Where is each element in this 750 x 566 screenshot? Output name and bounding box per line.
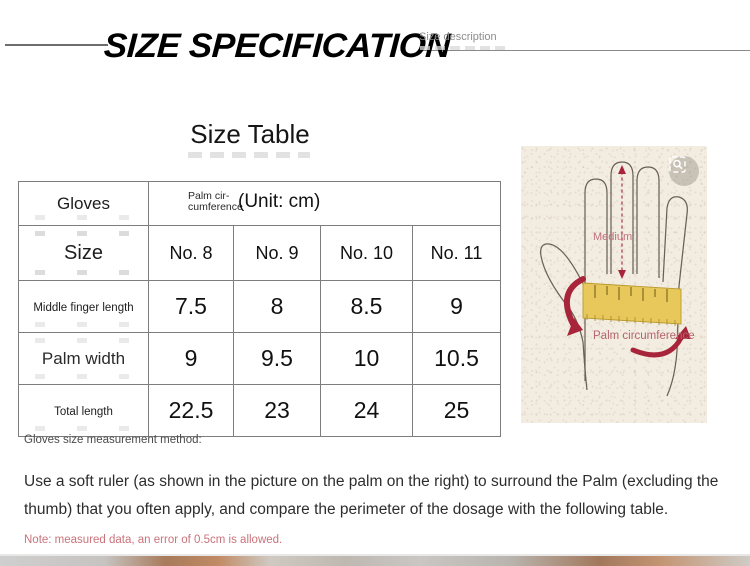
table-cell-value: No. 9 bbox=[234, 226, 321, 281]
unit-note: (Unit: cm) bbox=[238, 191, 320, 213]
table-row-middle-finger-length: Middle finger length 7.5 8 8.5 9 bbox=[19, 281, 501, 333]
table-cell-value: No. 8 bbox=[149, 226, 234, 281]
table-cell-value: 10.5 bbox=[413, 333, 501, 385]
hand-diagram-svg: Medium bbox=[521, 146, 707, 423]
arrow-head-down bbox=[618, 270, 626, 279]
hand-outline-icon bbox=[541, 162, 688, 396]
palm-circumference-label: Palm circumference bbox=[593, 330, 695, 342]
row-label: Size bbox=[64, 242, 103, 264]
hand-measurement-diagram[interactable]: Medium bbox=[521, 146, 707, 423]
table-cell-value: 23 bbox=[234, 385, 321, 437]
table-row-header: Gloves Palm cir-cumference (Unit: cm) bbox=[19, 182, 501, 226]
row-label: Palm width bbox=[42, 349, 125, 368]
size-specification-page: SIZE SPECIFICATION Size description Size… bbox=[0, 0, 750, 566]
table-row-palm-width: Palm width 9 9.5 10 10.5 bbox=[19, 333, 501, 385]
erased-text-artifact bbox=[19, 231, 148, 236]
size-table-heading: Size Table bbox=[0, 119, 500, 150]
table-cell-value: 9.5 bbox=[234, 333, 321, 385]
measurement-method-body: Use a soft ruler (as shown in the pictur… bbox=[24, 468, 724, 524]
table-cell-value: 9 bbox=[149, 333, 234, 385]
table-cell-row-label: Total length bbox=[19, 385, 149, 437]
table-cell-value: 8.5 bbox=[321, 281, 413, 333]
table-cell-value: No. 11 bbox=[413, 226, 501, 281]
table-cell-value: 8 bbox=[234, 281, 321, 333]
row-label: Gloves bbox=[57, 194, 110, 213]
measurement-note: Note: measured data, an error of 0.5cm i… bbox=[24, 534, 282, 546]
ruler-icon bbox=[583, 283, 681, 326]
erased-text-artifact bbox=[19, 374, 148, 379]
table-row-total-length: Total length 22.5 23 24 25 bbox=[19, 385, 501, 437]
table-cell-palm-circumference-unit: Palm cir-cumference (Unit: cm) bbox=[149, 182, 501, 226]
erased-text-artifact bbox=[19, 338, 148, 343]
table-cell-value: 10 bbox=[321, 333, 413, 385]
table-cell-value: 24 bbox=[321, 385, 413, 437]
table-cell-value: 25 bbox=[413, 385, 501, 437]
header-rule-right bbox=[418, 50, 750, 51]
table-cell-size-label: Size bbox=[19, 226, 149, 281]
table-row-size: Size No. 8 No. 9 No. 10 No. 11 bbox=[19, 226, 501, 281]
table-cell-row-label: Middle finger length bbox=[19, 281, 149, 333]
erased-text-artifact bbox=[19, 270, 148, 275]
table-cell-value: 7.5 bbox=[149, 281, 234, 333]
page-title: SIZE SPECIFICATION bbox=[103, 27, 451, 66]
medium-label: Medium bbox=[593, 231, 632, 243]
table-cell-gloves-label: Gloves bbox=[19, 182, 149, 226]
row-label: Total length bbox=[54, 406, 113, 418]
magnifier-frame-icon[interactable] bbox=[669, 156, 699, 186]
next-image-sliver bbox=[0, 554, 750, 566]
erased-text-artifact bbox=[188, 152, 310, 158]
table-cell-value: No. 10 bbox=[321, 226, 413, 281]
page-subtitle: Size description bbox=[419, 31, 497, 43]
magnifier-glyph bbox=[669, 156, 686, 173]
size-table: Gloves Palm cir-cumference (Unit: cm) Si… bbox=[18, 181, 501, 437]
erased-text-artifact bbox=[19, 215, 148, 220]
page-header: SIZE SPECIFICATION Size description bbox=[0, 20, 750, 80]
erased-text-artifact bbox=[19, 426, 148, 431]
arrow-head-up bbox=[618, 165, 626, 174]
table-cell-value: 22.5 bbox=[149, 385, 234, 437]
table-cell-value: 9 bbox=[413, 281, 501, 333]
row-label: Middle finger length bbox=[33, 302, 133, 314]
table-cell-row-label: Palm width bbox=[19, 333, 149, 385]
erased-text-artifact bbox=[420, 46, 505, 50]
header-rule-left bbox=[5, 44, 108, 46]
measurement-method-label: Gloves size measurement method: bbox=[24, 434, 204, 447]
erased-text-artifact bbox=[19, 322, 148, 327]
